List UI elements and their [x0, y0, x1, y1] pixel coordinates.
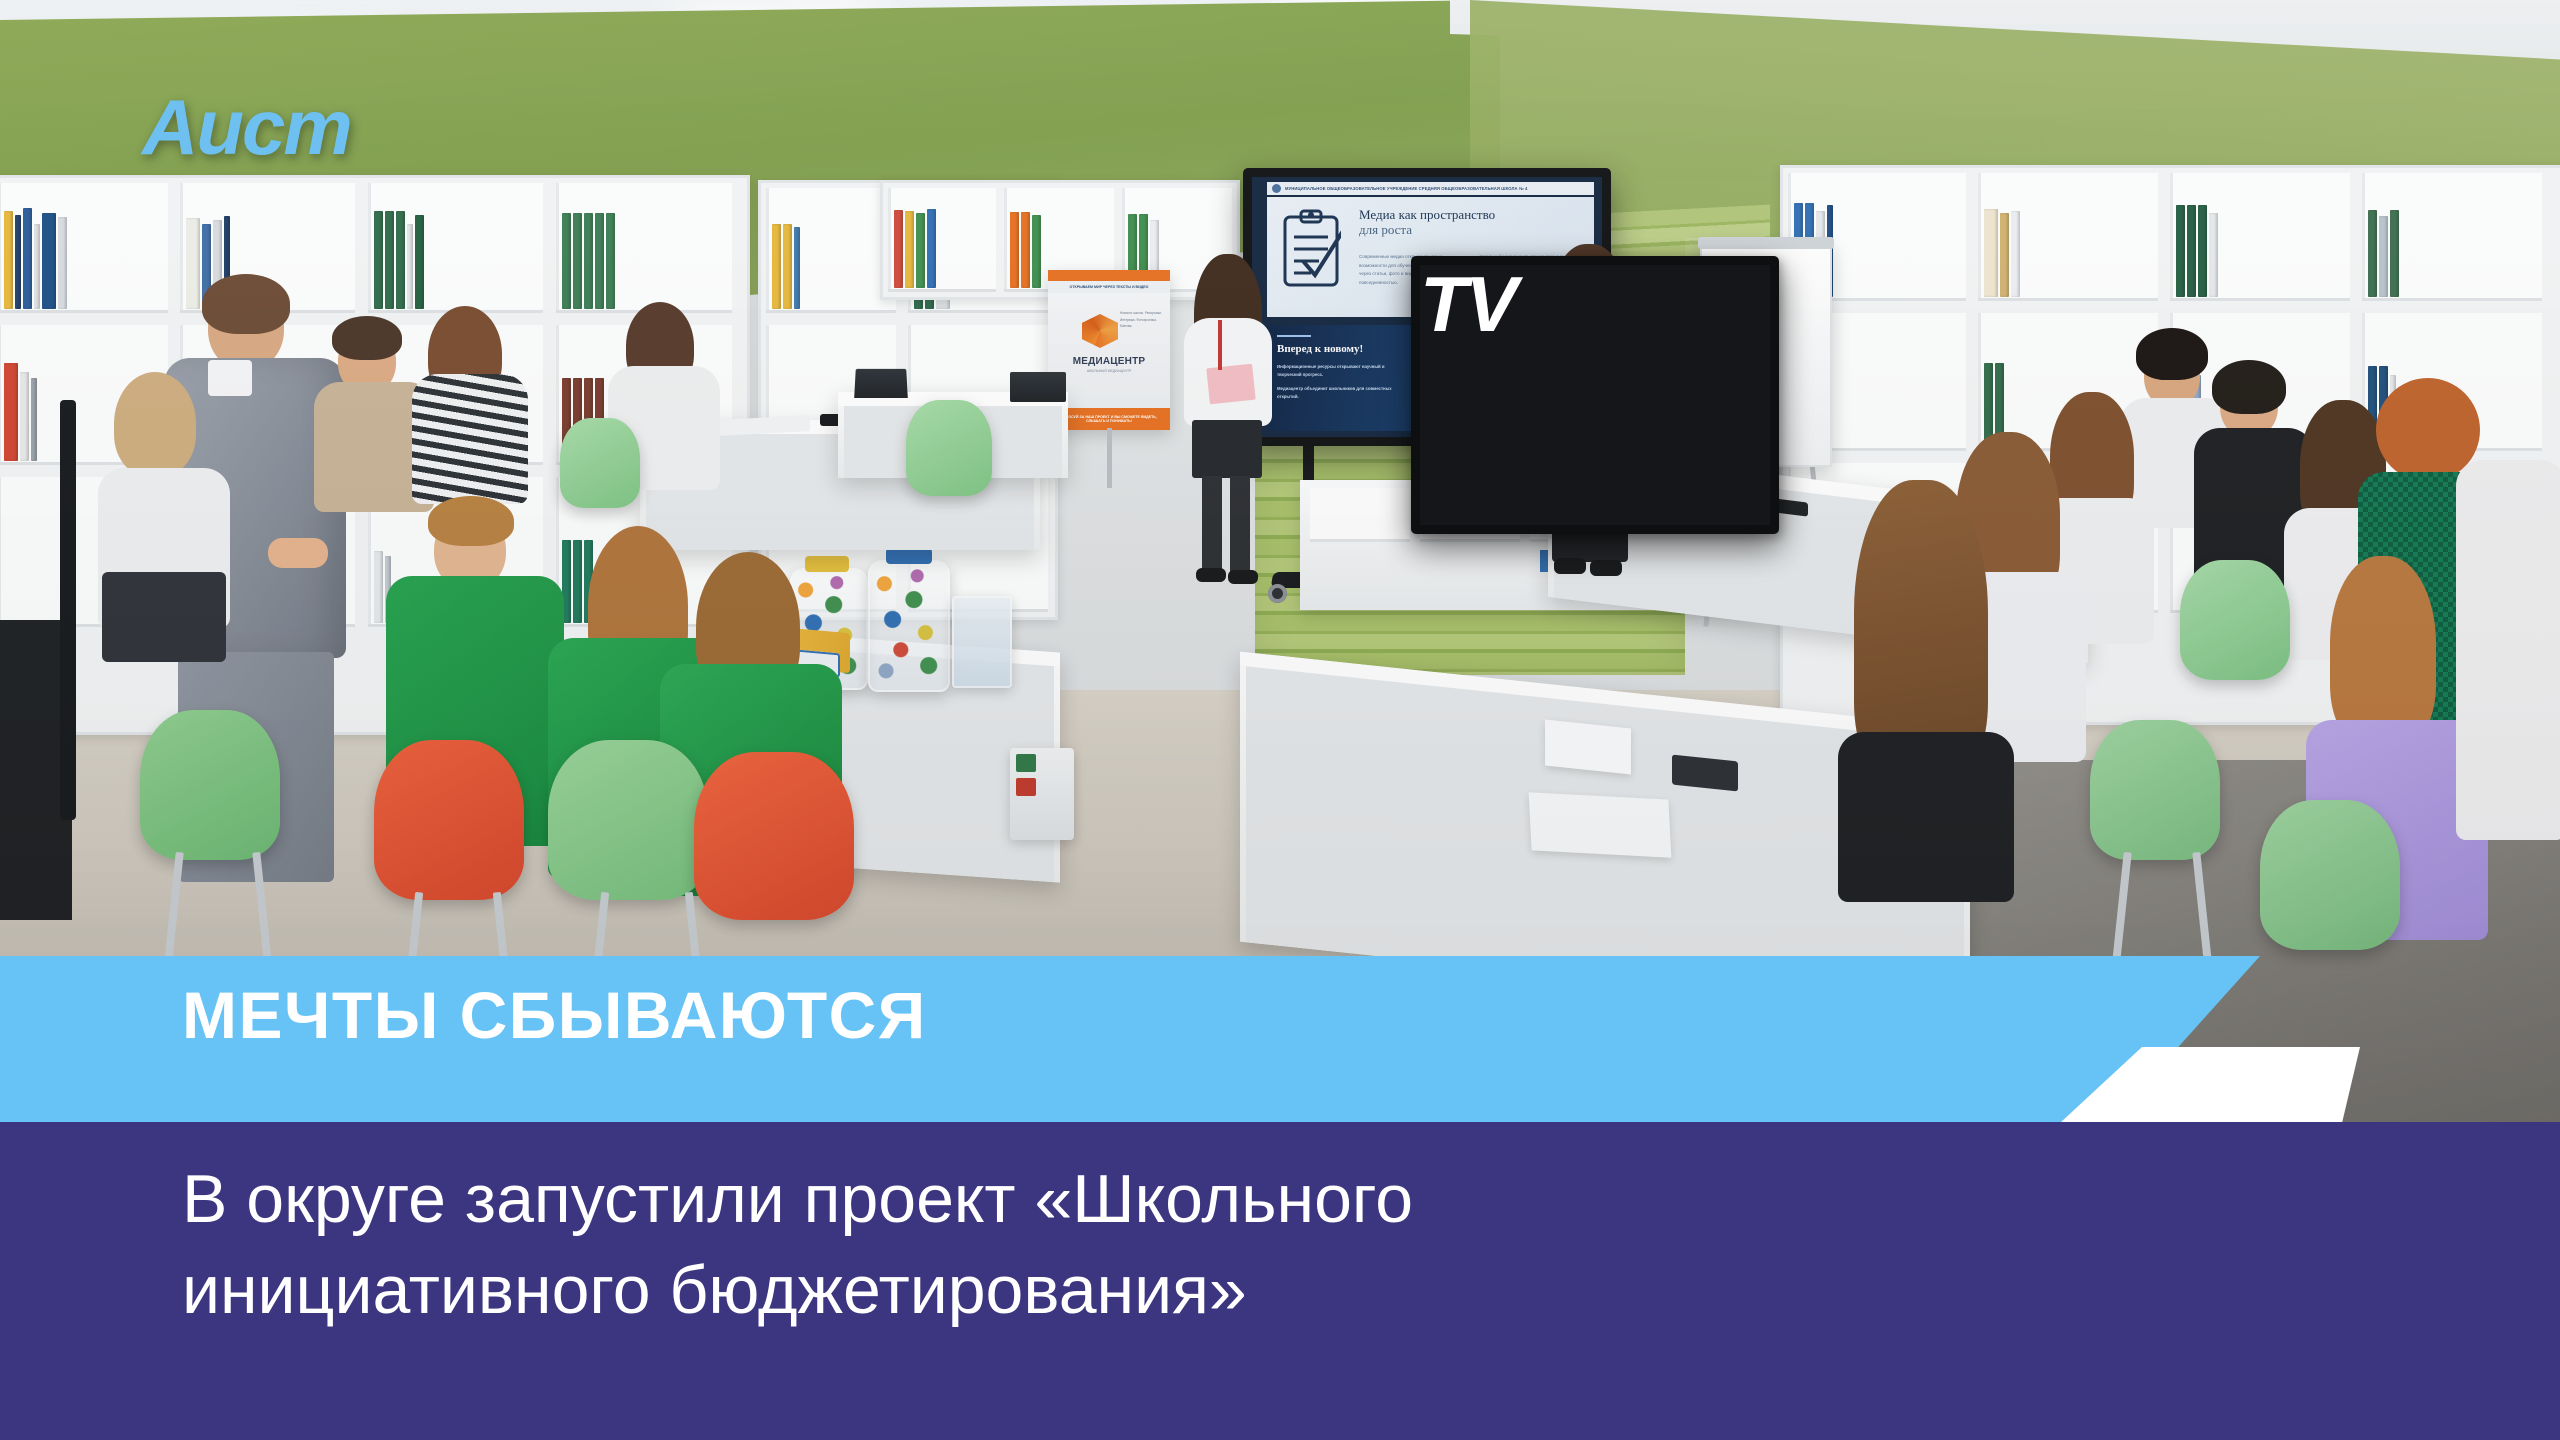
slide-header-strip: МУНИЦИПАЛЬНОЕ ОБЩЕОБРАЗОВАТЕЛЬНОЕ УЧРЕЖД…: [1267, 182, 1594, 195]
slide-lower-text-1: Информационные ресурсы открывают научный…: [1277, 363, 1397, 379]
headline-text: В округе запустили проект «Школьного ини…: [182, 1154, 2342, 1336]
bottle-with-caps: [868, 560, 950, 692]
slide-lower-title: Вперед к новому!: [1277, 343, 1363, 355]
channel-logo: TVАист: [168, 88, 351, 166]
flipchart-top-rail: [1698, 237, 1834, 249]
person-audience-girl-foreground: [1820, 480, 2020, 900]
clipboard-check-icon: [1281, 209, 1341, 289]
slide-subtitle: для роста: [1359, 222, 1586, 237]
chair-green: [560, 418, 640, 508]
rollup-top-strip: [1048, 270, 1170, 281]
rollup-subtitle: ШКОЛЬНЫЙ МЕДИАЦЕНТР: [1048, 369, 1170, 373]
slide-lower-text-2: Медиацентр объединит школьников для совм…: [1277, 385, 1397, 401]
headline-line-1: В округе запустили проект «Школьного: [182, 1154, 2342, 1245]
mediacenter-logo-icon: [1082, 314, 1118, 348]
logo-aist-text: Аист: [142, 83, 351, 171]
rollup-title: МЕДИАЦЕНТР: [1048, 356, 1170, 367]
lanyard: [1218, 320, 1222, 370]
rollup-side-text: Новости школы. Репортажи. Интервью. Фото…: [1120, 310, 1166, 330]
pink-paper: [1206, 364, 1256, 405]
person-seated-woman-striped: [406, 308, 534, 508]
logo-tv-text: TV: [1411, 256, 1779, 534]
slide-header-text: МУНИЦИПАЛЬНОЕ ОБЩЕОБРАЗОВАТЕЛЬНОЕ УЧРЕЖД…: [1285, 186, 1589, 191]
screenshot-canvas: ОТКРЫВАЕМ МИР ЧЕРЕЗ ТЕКСТЫ И ВИДЕО МЕДИА…: [0, 0, 2560, 1440]
slide-title: Медиа как пространство: [1359, 207, 1495, 222]
paper-sheet: [1545, 719, 1631, 774]
chair-green: [2090, 720, 2220, 860]
skirt: [1192, 420, 1262, 478]
chair-green: [548, 740, 708, 900]
rollup-stand: [1107, 428, 1112, 488]
pole-left: [60, 400, 76, 820]
chair-orange: [694, 752, 854, 920]
person-audience-edge: [2456, 420, 2560, 840]
chair-green: [140, 710, 280, 860]
chair-green: [2180, 560, 2290, 680]
person-presenter-left: [1168, 258, 1286, 588]
kicker-text: МЕЧТЫ СБЫВАЮТСЯ: [182, 982, 927, 1048]
waste-bin: [1010, 748, 1074, 840]
paper-sheet: [1529, 792, 1672, 858]
rollup-sub-strip: ОТКРЫВАЕМ МИР ЧЕРЕЗ ТЕКСТЫ И ВИДЕО: [1048, 281, 1170, 293]
bottle-cap: [886, 548, 932, 564]
person-seated-woman-blonde: [92, 372, 242, 652]
lower-third-banner: МЕЧТЫ СБЫВАЮТСЯ В округе запустили проек…: [0, 956, 2560, 1440]
headline-line-2: инициативного бюджетирования»: [182, 1245, 2342, 1336]
chair-orange: [374, 740, 524, 900]
plastic-container: [952, 596, 1012, 688]
slide-title-block: Медиа как пространство для роста: [1359, 207, 1586, 238]
laptop: [854, 369, 908, 398]
school-emblem-icon: [1272, 184, 1281, 193]
laptop: [1010, 372, 1066, 402]
chair-green: [906, 400, 992, 496]
chair-green: [2260, 800, 2400, 950]
